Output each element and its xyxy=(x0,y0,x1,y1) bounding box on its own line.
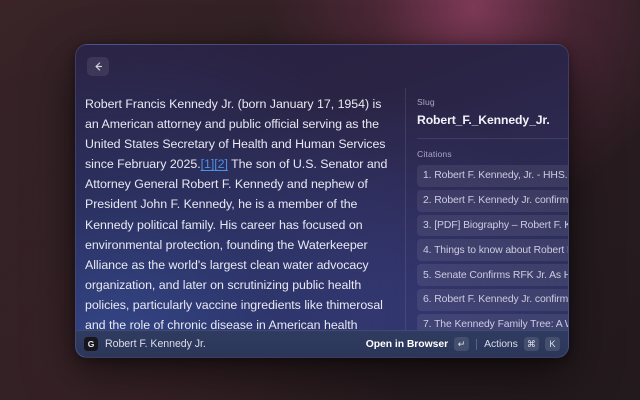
actions-button[interactable]: Actions xyxy=(484,339,518,350)
metadata-pane: Slug Robert_F._Kennedy_Jr. Citations 1. … xyxy=(405,88,568,330)
launcher-window: Robert Francis Kennedy Jr. (born January… xyxy=(75,44,569,358)
footer-title: Robert F. Kennedy Jr. xyxy=(105,338,366,350)
slug-section: Slug Robert_F._Kennedy_Jr. xyxy=(417,97,568,138)
app-badge-icon: G xyxy=(84,337,98,351)
citation-item[interactable]: 4. Things to know about Robert F. Ke xyxy=(417,239,568,261)
open-in-browser-button[interactable]: Open in Browser xyxy=(366,339,448,350)
content-area: Robert Francis Kennedy Jr. (born January… xyxy=(76,88,568,330)
desktop-background: Robert Francis Kennedy Jr. (born January… xyxy=(0,0,640,400)
command-key-icon[interactable]: ⌘ xyxy=(524,337,539,351)
citation-item[interactable]: 3. [PDF] Biography – Robert F. Kenne xyxy=(417,215,568,237)
citation-link[interactable]: [1] xyxy=(201,157,215,171)
citations-section: Citations 1. Robert F. Kennedy, Jr. - HH… xyxy=(417,138,568,330)
citation-item[interactable]: 5. Senate Confirms RFK Jr. As HHS S xyxy=(417,264,568,286)
footer-action-bar: G Robert F. Kennedy Jr. Open in Browser … xyxy=(76,330,568,357)
citation-link[interactable]: [2] xyxy=(214,157,228,171)
citation-item[interactable]: 7. The Kennedy Family Tree: A Who's xyxy=(417,314,568,330)
footer-actions: Open in Browser ↵ Actions ⌘ K xyxy=(366,337,560,351)
citations-list: 1. Robert F. Kennedy, Jr. - HHS.gov2. Ro… xyxy=(417,165,568,330)
enter-key-icon[interactable]: ↵ xyxy=(454,337,469,351)
article-paragraph: Robert Francis Kennedy Jr. (born January… xyxy=(85,94,391,330)
window-top-bar xyxy=(76,45,568,88)
citations-label: Citations xyxy=(417,149,568,159)
article-pane: Robert Francis Kennedy Jr. (born January… xyxy=(76,88,405,330)
paragraph-text: The son of U.S. Senator and Attorney Gen… xyxy=(85,157,387,330)
article-body: Robert Francis Kennedy Jr. (born January… xyxy=(85,94,391,330)
slug-value: Robert_F._Kennedy_Jr. xyxy=(417,113,568,127)
citation-item[interactable]: 1. Robert F. Kennedy, Jr. - HHS.gov xyxy=(417,165,568,187)
k-key-icon[interactable]: K xyxy=(545,337,560,351)
slug-label: Slug xyxy=(417,97,568,107)
back-button[interactable] xyxy=(87,57,109,76)
citation-item[interactable]: 6. Robert F. Kennedy Jr. confirmed as xyxy=(417,289,568,311)
citation-item[interactable]: 2. Robert F. Kennedy Jr. confirmed as xyxy=(417,190,568,212)
footer-divider xyxy=(476,339,477,350)
